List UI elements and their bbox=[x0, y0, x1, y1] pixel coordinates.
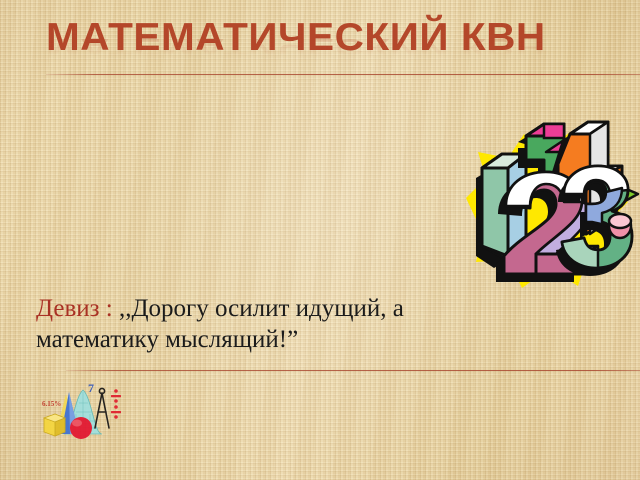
slide-canvas: МАТЕМАТИЧЕСКИЙ КВН МАТЕМАТИЧЕСКИЙ КВН Де… bbox=[0, 0, 640, 480]
svg-text:6.15%: 6.15% bbox=[42, 400, 61, 408]
page-title: МАТЕМАТИЧЕСКИЙ КВН bbox=[46, 16, 628, 60]
svg-text:7: 7 bbox=[88, 381, 94, 395]
divider-rule-top bbox=[46, 74, 640, 75]
divider-rule-bottom bbox=[66, 370, 640, 371]
motto-label: Девиз : bbox=[36, 295, 113, 322]
math-figures-clipart: 7 6.15% bbox=[42, 376, 124, 442]
numbers-clipart bbox=[452, 106, 640, 296]
slide-title-block: МАТЕМАТИЧЕСКИЙ КВН МАТЕМАТИЧЕСКИЙ КВН bbox=[46, 16, 606, 78]
motto-text: Девиз : ,,Дорогу осилит идущий, а матема… bbox=[36, 293, 466, 355]
